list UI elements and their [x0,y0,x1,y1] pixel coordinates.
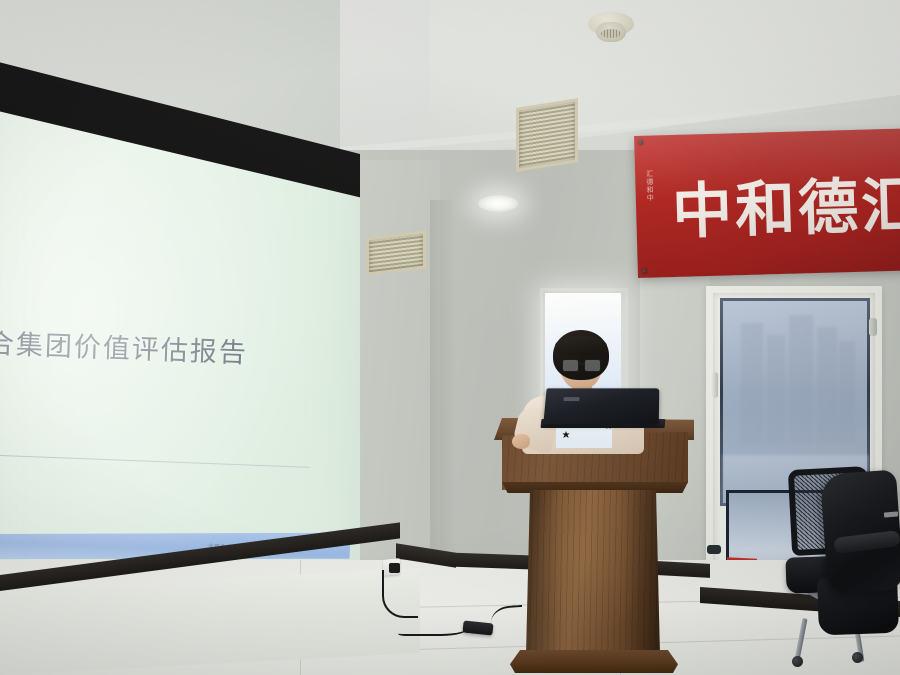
window-stopper [707,545,721,554]
laptop-lid [543,388,659,424]
chair-caster [792,656,803,667]
banner-text: 中和德汇 [671,156,900,250]
presenter-hair-fringe [555,336,607,356]
chair-caster [852,652,863,663]
smoke-detector-icon [588,12,634,44]
podium [494,418,694,675]
wall-vent-grille [366,230,426,275]
ceiling-vent-grille [516,98,578,172]
conference-room-scene: 众合集团价值评估报告 北京众合东方技术发展有限公司 汇德和中 中和德汇 [0,0,900,675]
window-latch[interactable] [869,318,877,336]
podium-column-shadow [526,490,660,656]
presenter-hand [512,434,530,449]
window-handle[interactable] [712,372,718,398]
glasses-icon [562,359,601,371]
podium-base [510,650,678,673]
power-cable-segment [382,570,418,618]
banner-grommet [642,269,647,274]
banner-grommet [638,140,643,145]
laptop-logo [563,397,579,401]
laptop[interactable] [541,388,665,432]
power-cable-segment [398,612,470,636]
office-chair[interactable] [782,468,900,668]
recessed-light [478,195,518,212]
banner-side-text: 汇德和中 [645,170,656,202]
